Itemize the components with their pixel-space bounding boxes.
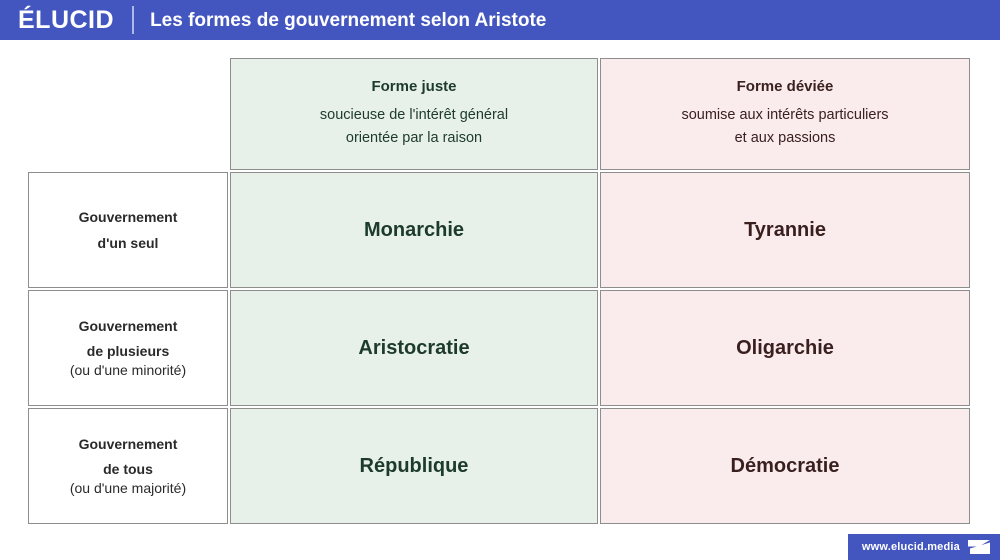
corner-cell: [28, 58, 228, 170]
column-header-title: Forme déviée: [737, 79, 834, 96]
table-row: Gouvernement d'un seul Monarchie Tyranni…: [28, 172, 970, 288]
term-label: Démocratie: [731, 454, 840, 478]
cell-republique: République: [230, 408, 598, 524]
footer-bar: www.elucid.media: [848, 534, 1000, 560]
logo-divider: [132, 6, 134, 34]
cell-tyrannie: Tyrannie: [600, 172, 970, 288]
row-label-plusieurs: Gouvernement de plusieurs (ou d'une mino…: [28, 290, 228, 406]
footer-url[interactable]: www.elucid.media: [862, 542, 960, 553]
government-forms-table: Forme juste soucieuse de l'intérêt génér…: [28, 58, 970, 520]
table-row: Gouvernement de tous (ou d'une majorité)…: [28, 408, 970, 524]
row-label-un-seul: Gouvernement d'un seul: [28, 172, 228, 288]
cell-aristocratie: Aristocratie: [230, 290, 598, 406]
column-header-subtitle-line-1: soucieuse de l'intérêt général: [320, 104, 508, 126]
header-bar: ÉLUCID Les formes de gouvernement selon …: [0, 0, 1000, 40]
arrow-mark-icon: [966, 538, 992, 556]
column-header-subtitle-line-1: soumise aux intérêts particuliers: [681, 104, 888, 126]
column-header-title: Forme juste: [371, 79, 456, 96]
row-label-note: (ou d'une minorité): [70, 362, 186, 378]
table-row: Gouvernement de plusieurs (ou d'une mino…: [28, 290, 970, 406]
row-label-line-2: d'un seul: [98, 235, 159, 251]
column-header-forme-deviee: Forme déviée soumise aux intérêts partic…: [600, 58, 970, 170]
row-label-line-2: de plusieurs: [87, 343, 169, 359]
cell-democratie: Démocratie: [600, 408, 970, 524]
term-label: Tyrannie: [744, 218, 826, 242]
row-label-line-1: Gouvernement: [79, 209, 178, 225]
cell-monarchie: Monarchie: [230, 172, 598, 288]
row-label-line-1: Gouvernement: [79, 436, 178, 452]
row-label-note: (ou d'une majorité): [70, 480, 186, 496]
term-label: Oligarchie: [736, 336, 834, 360]
page-title: Les formes de gouvernement selon Aristot…: [150, 11, 546, 30]
column-header-subtitle-line-2: et aux passions: [735, 127, 836, 149]
table-header-row: Forme juste soucieuse de l'intérêt génér…: [28, 58, 970, 170]
term-label: Aristocratie: [358, 336, 469, 360]
row-label-line-1: Gouvernement: [79, 318, 178, 334]
column-header-subtitle-line-2: orientée par la raison: [346, 127, 482, 149]
term-label: République: [360, 454, 469, 478]
column-header-forme-juste: Forme juste soucieuse de l'intérêt génér…: [230, 58, 598, 170]
cell-oligarchie: Oligarchie: [600, 290, 970, 406]
slide-root: ÉLUCID Les formes de gouvernement selon …: [0, 0, 1000, 560]
elucid-logo: ÉLUCID: [0, 8, 114, 33]
row-label-tous: Gouvernement de tous (ou d'une majorité): [28, 408, 228, 524]
term-label: Monarchie: [364, 218, 464, 242]
row-label-line-2: de tous: [103, 461, 153, 477]
